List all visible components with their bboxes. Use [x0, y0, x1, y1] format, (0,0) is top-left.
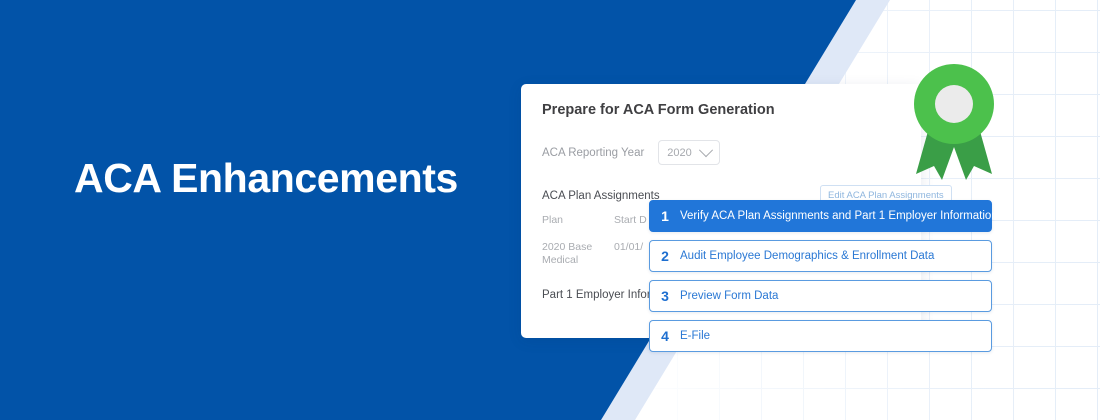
award-ribbon-icon	[908, 62, 1000, 184]
employer-info-label: Part 1 Employer Infor	[542, 289, 651, 301]
reporting-year-select[interactable]: 2020	[658, 140, 720, 165]
step-item-1[interactable]: 1 Verify ACA Plan Assignments and Part 1…	[649, 200, 992, 232]
reporting-year-field: ACA Reporting Year 2020	[542, 140, 720, 165]
page-title: ACA Enhancements	[74, 155, 458, 202]
steps-list: 1 Verify ACA Plan Assignments and Part 1…	[649, 200, 992, 360]
plan-assignments-label: ACA Plan Assignments	[542, 190, 660, 202]
step-label-3: Preview Form Data	[680, 290, 778, 302]
column-header-plan: Plan	[542, 214, 614, 226]
step-item-2[interactable]: 2 Audit Employee Demographics & Enrollme…	[649, 240, 992, 272]
promo-banner: ACA Enhancements Prepare for ACA Form Ge…	[0, 0, 1100, 420]
card-title: Prepare for ACA Form Generation	[542, 102, 775, 118]
reporting-year-value: 2020	[667, 147, 691, 159]
step-label-1: Verify ACA Plan Assignments and Part 1 E…	[680, 210, 998, 222]
step-item-3[interactable]: 3 Preview Form Data	[649, 280, 992, 312]
step-number-2: 2	[650, 248, 680, 264]
step-number-3: 3	[650, 288, 680, 304]
step-label-4: E-File	[680, 330, 710, 342]
step-number-1: 1	[650, 208, 680, 224]
step-number-4: 4	[650, 328, 680, 344]
cell-plan-name: 2020 Base Medical	[542, 241, 614, 267]
chevron-down-icon	[699, 143, 713, 157]
step-label-2: Audit Employee Demographics & Enrollment…	[680, 250, 934, 262]
reporting-year-label: ACA Reporting Year	[542, 147, 644, 159]
step-item-4[interactable]: 4 E-File	[649, 320, 992, 352]
